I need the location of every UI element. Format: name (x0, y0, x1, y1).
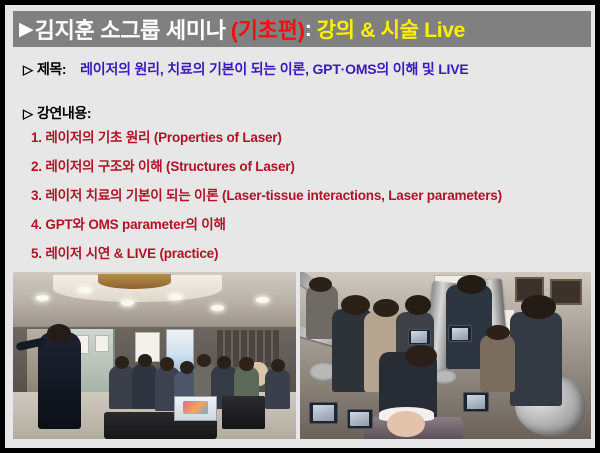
attendee (510, 312, 562, 406)
smartphone (463, 392, 489, 412)
presentation-slide: ▶ 김지훈 소그룹 세미나 (기초편) : 강의 & 시술 Live ▷ 제목:… (0, 0, 600, 453)
photo-strip (13, 272, 591, 439)
contents-bullet-triangle-icon: ▷ (23, 106, 33, 121)
wall-frame (550, 279, 582, 306)
attendee (480, 335, 515, 392)
attendee-head (309, 277, 332, 292)
contents-label: 강연내용: (37, 105, 91, 121)
list-item: 3. 레이저 치료의 기본이 되는 이론 (Laser-tissue inter… (31, 181, 599, 210)
operator-head (405, 345, 437, 367)
title-bullet-triangle-icon: ▶ (19, 20, 34, 39)
audience-head (160, 357, 174, 370)
contents-heading: ▷ 강연내용: (23, 103, 91, 123)
subject-bullet-triangle-icon: ▷ (23, 62, 33, 77)
subject-line: ▷ 제목: 레이저의 원리, 치료의 기본이 되는 이론, GPT·OMS의 이… (23, 59, 593, 79)
subject-text: 레이저의 원리, 치료의 기본이 되는 이론, GPT·OMS의 이해 및 LI… (80, 61, 468, 77)
audience-member (132, 364, 157, 409)
audience-head (217, 356, 231, 369)
title-level-tag: (기초편) (231, 13, 305, 45)
smartphone (347, 409, 373, 429)
presenter-body (38, 332, 80, 429)
audience-head (138, 354, 152, 367)
title-colon: : (305, 16, 312, 42)
list-item: 5. 레이저 시연 & LIVE (practice) (31, 239, 599, 268)
slide-title-bar: ▶ 김지훈 소그룹 세미나 (기초편) : 강의 & 시술 Live (13, 11, 591, 47)
wood-ceiling-panel (98, 274, 172, 289)
presenter-head (47, 324, 71, 342)
audience-head (239, 357, 253, 370)
audience-head (115, 356, 129, 369)
audience-member (265, 369, 290, 409)
seminar-lecture-photo (13, 272, 296, 439)
smartphone (448, 325, 471, 342)
subject-label: 제목: (37, 61, 66, 77)
list-item: 2. 레이저의 구조와 이해 (Structures of Laser) (31, 152, 599, 181)
patient-face (387, 411, 425, 438)
list-item: 4. GPT와 OMS parameter의 이해 (31, 210, 599, 239)
laser-demonstration-photo (300, 272, 591, 439)
audience-head (180, 361, 194, 374)
attendee-head (521, 295, 556, 318)
attendee-head (373, 299, 399, 317)
laptop-screen (174, 396, 216, 421)
title-subtitle-text: 강의 & 시술 Live (317, 14, 465, 44)
smartphone (408, 329, 431, 346)
audience-head (271, 359, 285, 372)
title-main-text: 김지훈 소그룹 세미나 (35, 13, 226, 45)
smartphone (309, 402, 338, 424)
phone-screen (452, 328, 468, 340)
audience-member (109, 366, 134, 409)
lecture-topic-list: 1. 레이저의 기초 원리 (Properties of Laser) 2. 레… (31, 123, 599, 268)
screen-image (183, 401, 209, 414)
list-item: 1. 레이저의 기초 원리 (Properties of Laser) (31, 123, 599, 152)
phone-screen (411, 331, 427, 343)
door-notice (95, 335, 109, 352)
phone-screen (350, 412, 368, 426)
ceiling-light (169, 294, 182, 300)
attendee-head (457, 275, 486, 293)
monitor (222, 396, 264, 429)
phone-screen (467, 395, 485, 409)
phone-screen (313, 405, 334, 421)
